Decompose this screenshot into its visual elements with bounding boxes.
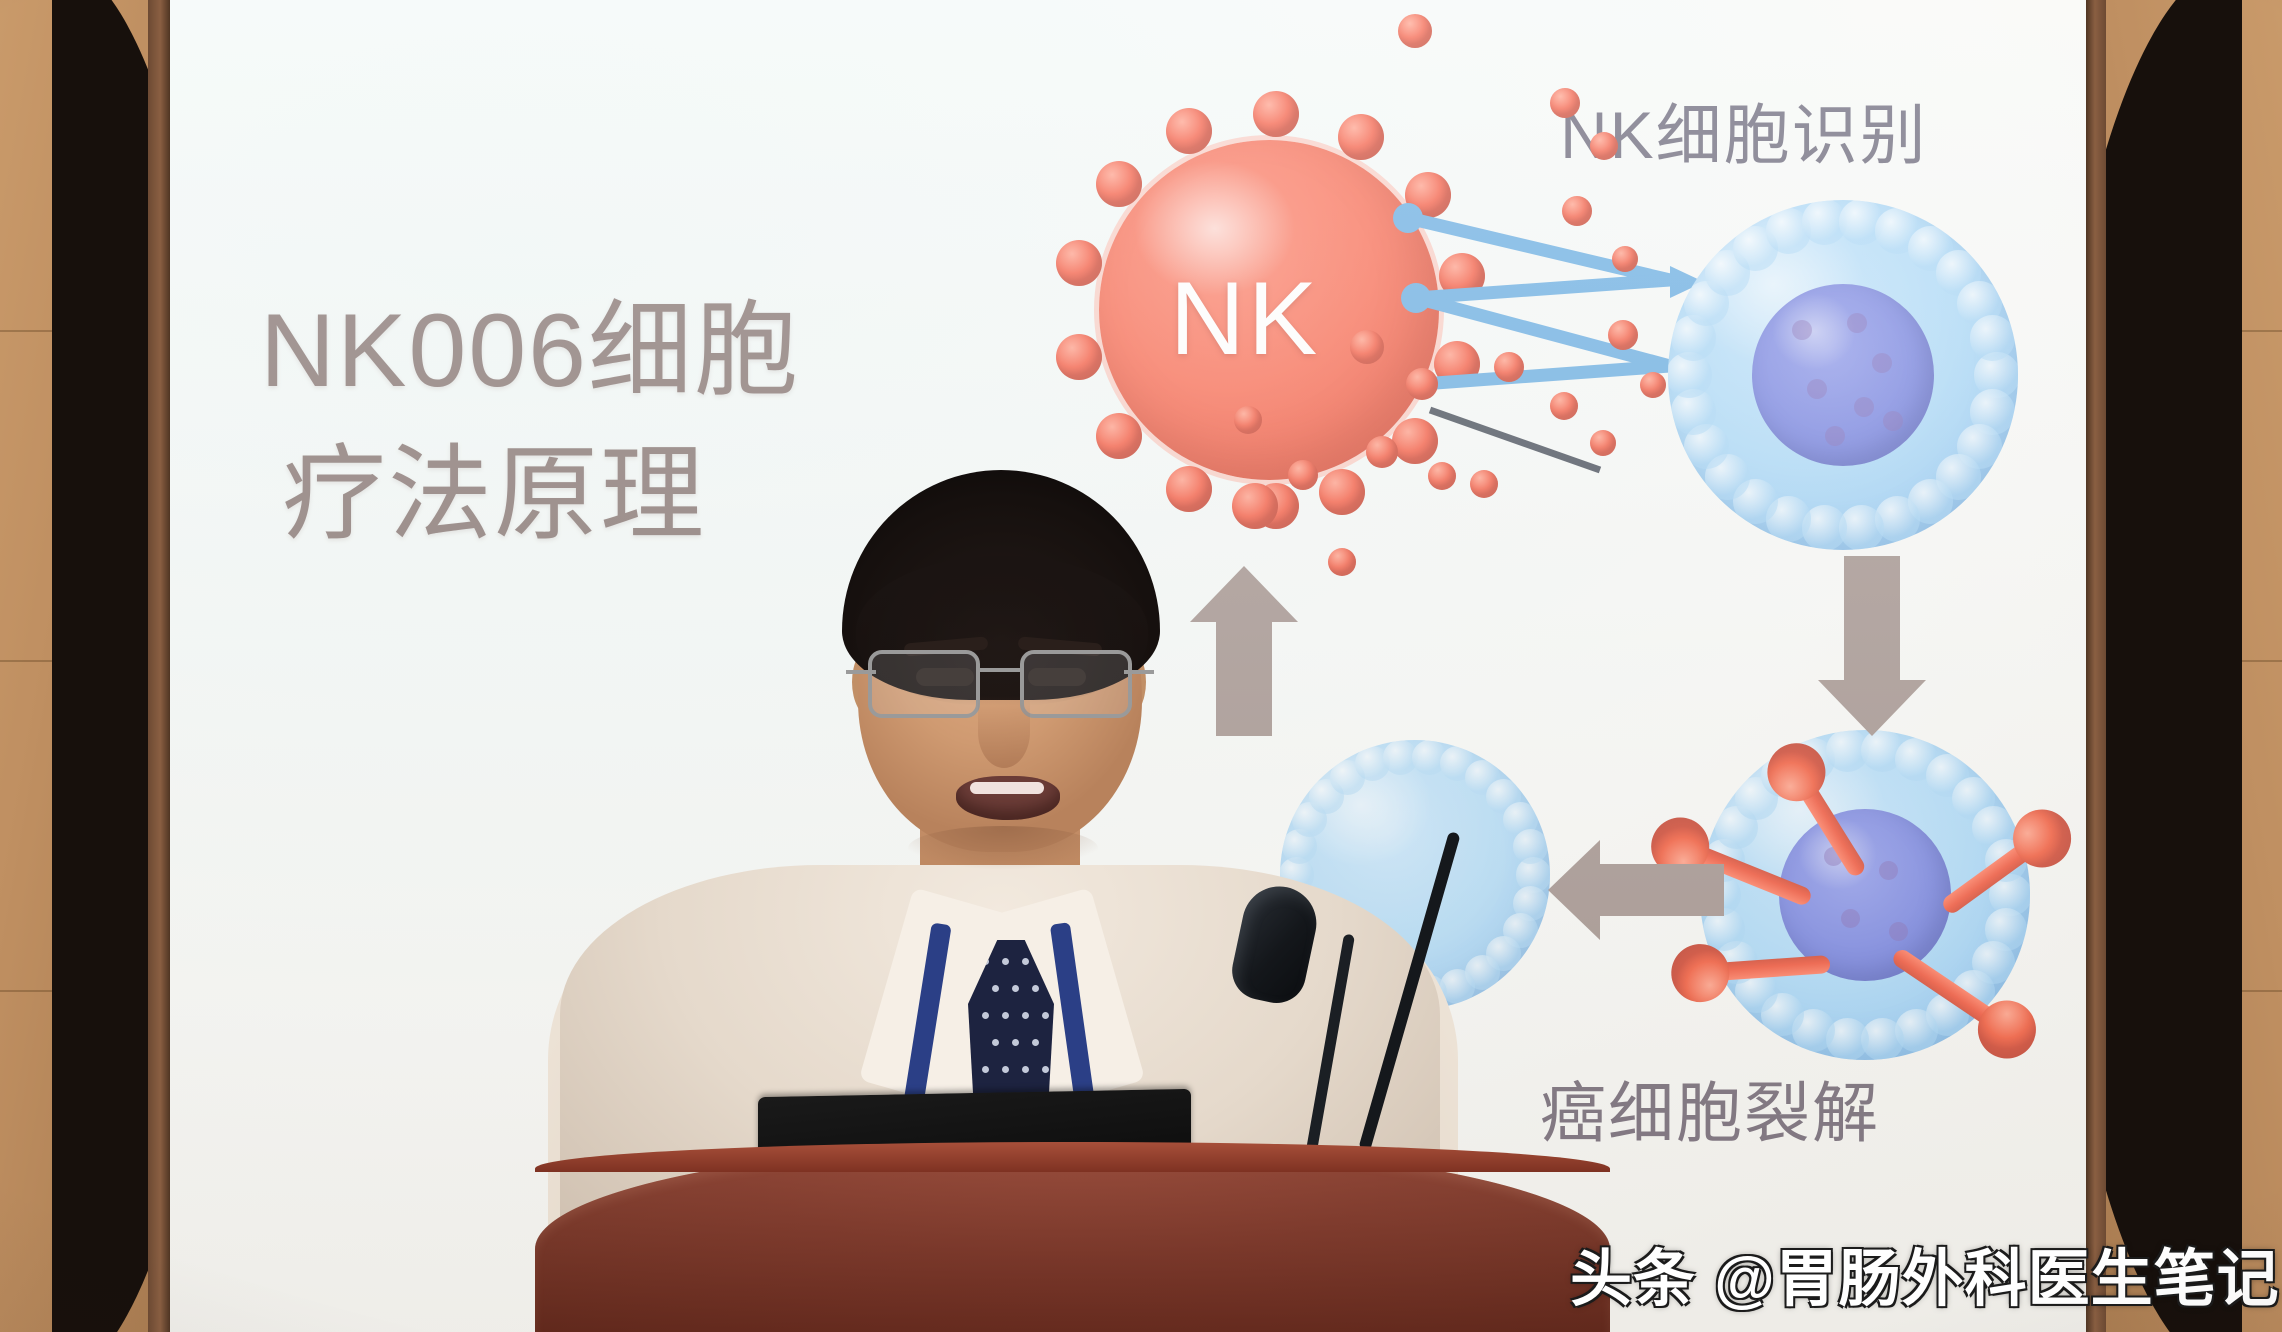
granule-2: [1590, 132, 1618, 160]
membrane-bump: [1513, 829, 1548, 864]
screen-frame-left: [148, 0, 170, 1332]
granule-13: [1640, 372, 1666, 398]
eyeglass-lens-right: [1020, 650, 1132, 718]
nk-cell-receptor-4: [1056, 334, 1102, 380]
necktie-dot: [1032, 985, 1039, 992]
slide-title-line-1: NK006细胞: [260, 293, 800, 409]
necktie-dot: [992, 1039, 999, 1046]
diagram-label-lysis: 癌细胞裂解: [1540, 1060, 1880, 1156]
eyeglass-temple-left: [846, 670, 876, 674]
nk-cell-receptor-7: [1166, 108, 1212, 154]
granule-8: [1494, 352, 1524, 382]
granule-18: [1590, 430, 1616, 456]
ligand-head: [1669, 942, 1731, 1004]
nk-cell-receptor-3: [1096, 413, 1142, 459]
necktie-dot: [1002, 1066, 1009, 1073]
granule-15: [1234, 406, 1262, 434]
speaker-chin-shadow: [908, 826, 1098, 870]
granule-9: [1550, 392, 1578, 420]
granule-7: [1406, 368, 1438, 400]
flow-arrow-left: [1548, 840, 1724, 940]
necktie-dot: [1042, 1012, 1049, 1019]
necktie-dot: [1012, 1039, 1019, 1046]
diagram-target-cell: [1668, 200, 2018, 550]
granule-11: [1428, 462, 1456, 490]
granule-16: [1470, 470, 1498, 498]
nk-cell-receptor-5: [1056, 240, 1102, 286]
nk-cell-receptor-6: [1096, 161, 1142, 207]
diagram-label-recognition: NK细胞识别: [1560, 82, 1928, 178]
nk-cell-receptor-8: [1253, 91, 1299, 137]
necktie-dot: [982, 1066, 989, 1073]
necktie-dot: [1002, 958, 1009, 965]
granule-12: [1608, 320, 1638, 350]
necktie-dot: [1032, 1039, 1039, 1046]
granule-5: [1612, 246, 1638, 272]
necktie-dot: [1022, 958, 1029, 965]
necktie-dot: [982, 1012, 989, 1019]
necktie-dot: [1042, 1066, 1049, 1073]
ligand-spike-4: [1698, 935, 1832, 1002]
watermark: 头条 @胃肠外科医生笔记: [1570, 1228, 2280, 1318]
granule-1: [1550, 88, 1580, 118]
flow-arrow-down: [1818, 556, 1926, 736]
eyeglass-bridge: [980, 668, 1022, 672]
granule-6: [1350, 330, 1384, 364]
target-cell-nucleus: [1752, 284, 1934, 466]
necktie-dot: [1012, 985, 1019, 992]
membrane-bump: [1970, 315, 2016, 361]
screen-frame-right: [2086, 0, 2106, 1332]
screenshot-root: NK006细胞 疗法原理 NK细胞识别 癌细胞裂解 NK: [0, 0, 2282, 1332]
granule-10: [1366, 436, 1398, 468]
speaker-mouth: [956, 776, 1060, 820]
necktie-dot: [992, 985, 999, 992]
granule-4: [1562, 196, 1592, 226]
speaker-nose: [978, 696, 1030, 768]
necktie-dot: [1002, 1012, 1009, 1019]
eyeglass-temple-right: [1124, 670, 1154, 674]
granule-3: [1398, 14, 1432, 48]
necktie-dot: [1022, 1066, 1029, 1073]
necktie-dot: [1022, 1012, 1029, 1019]
nk-cell-receptor-9: [1338, 114, 1384, 160]
eyeglass-lens-left: [868, 650, 980, 718]
